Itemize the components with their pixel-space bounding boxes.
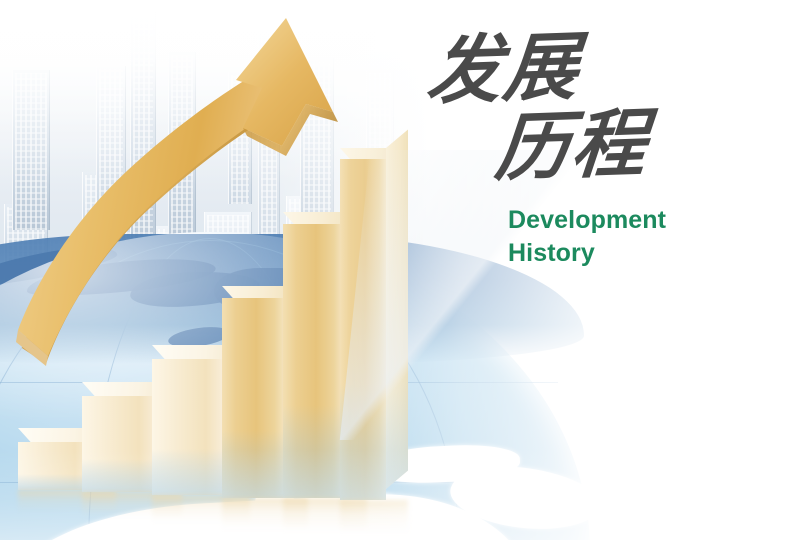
- development-history-banner: 发展 历程 Development History: [0, 0, 800, 540]
- english-title-line-1: Development: [508, 206, 666, 234]
- chinese-title: 发展 历程: [424, 30, 724, 182]
- chinese-title-line-2: 历程: [492, 104, 727, 186]
- english-title: Development History: [508, 204, 724, 270]
- english-title-line-2: History: [508, 237, 724, 270]
- title-block: 发展 历程 Development History: [424, 30, 724, 270]
- chinese-title-line-1: 发展: [424, 25, 728, 109]
